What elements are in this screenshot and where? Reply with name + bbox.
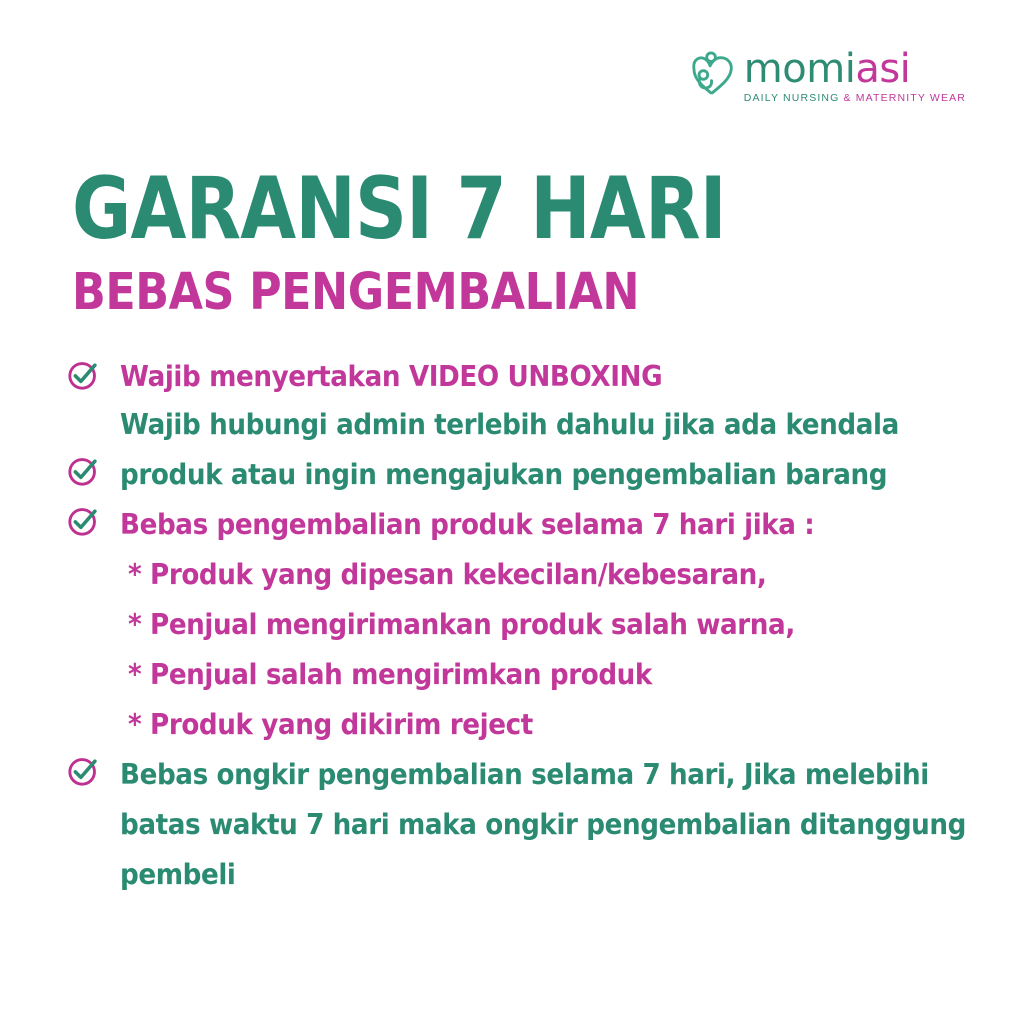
check-circle-icon <box>66 754 100 788</box>
list-item-line: Bebas pengembalian produk selama 7 hari … <box>120 500 917 550</box>
list-item-line: Wajib hubungi admin terlebih dahulu jika… <box>120 400 917 450</box>
list-sub-item: * Produk yang dikirim reject <box>128 700 917 750</box>
list-item: Bebas ongkir pengembalian selama 7 hari,… <box>66 750 986 900</box>
brand-text: momiasi DAILY NURSING & MATERNITY WEAR <box>744 48 966 105</box>
check-circle-icon <box>66 358 100 392</box>
list-sub-item: * Penjual salah mengirimkan produk <box>128 650 917 700</box>
brand-tagline: DAILY NURSING & MATERNITY WEAR <box>744 92 966 105</box>
check-circle-icon <box>66 504 100 538</box>
brand-tagline-part2: MATERNITY WEAR <box>856 92 966 104</box>
list-sub-item: * Produk yang dipesan kekecilan/kebesara… <box>128 550 917 600</box>
list-sub-item: * Penjual mengirimankan produk salah war… <box>128 600 917 650</box>
list-item-line: pembeli <box>120 850 917 900</box>
brand-tagline-part1: DAILY NURSING <box>744 92 840 104</box>
list-item-body: Bebas ongkir pengembalian selama 7 hari,… <box>120 750 986 900</box>
list-item: Wajib hubungi admin terlebih dahulu jika… <box>66 400 986 498</box>
list-item-body: Wajib hubungi admin terlebih dahulu jika… <box>120 400 986 500</box>
check-circle-icon <box>66 454 100 488</box>
brand-tagline-ampersand: & <box>844 92 852 104</box>
page-subtitle: BEBAS PENGEMBALIAN <box>72 266 749 320</box>
list-item-body: Bebas pengembalian produk selama 7 hari … <box>120 500 986 750</box>
page-title: GARANSI 7 HARI <box>72 166 726 252</box>
list-item-line: produk atau ingin mengajukan pengembalia… <box>120 450 917 500</box>
mother-and-baby-heart-logo-icon <box>688 50 736 98</box>
list-item: Wajib menyertakan VIDEO UNBOXING <box>66 352 986 400</box>
brand-wordmark-part2: asi <box>855 46 910 92</box>
list-item: Bebas pengembalian produk selama 7 hari … <box>66 500 986 750</box>
list-item-line: batas waktu 7 hari maka ongkir pengembal… <box>120 800 917 850</box>
brand-wordmark: momiasi <box>744 48 910 90</box>
brand-logo: momiasi DAILY NURSING & MATERNITY WEAR <box>688 48 966 105</box>
list-item-body: Wajib menyertakan VIDEO UNBOXING <box>120 352 986 402</box>
list-item-line: Bebas ongkir pengembalian selama 7 hari,… <box>120 750 917 800</box>
list-item-line: Wajib menyertakan VIDEO UNBOXING <box>120 352 917 402</box>
headline-block: GARANSI 7 HARI BEBAS PENGEMBALIAN <box>72 166 850 320</box>
policy-list: Wajib menyertakan VIDEO UNBOXING Wajib h… <box>66 352 986 900</box>
brand-wordmark-part1: momi <box>744 46 856 92</box>
